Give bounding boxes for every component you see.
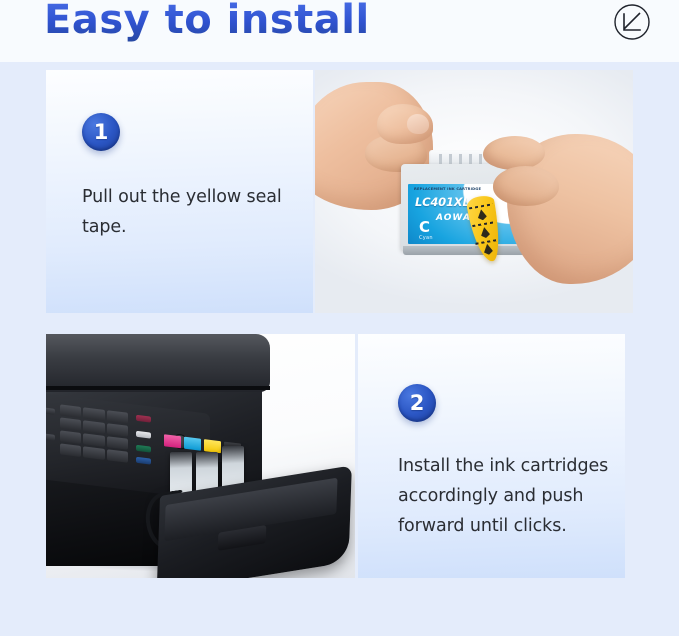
right-hand-middle-finger [493, 166, 559, 206]
printer-lid-seam [46, 386, 270, 390]
keypad-key [60, 417, 81, 431]
cartridge-color-letter: C [419, 220, 430, 235]
cartridge-color-name: Cyan [419, 235, 433, 241]
step-2-text-card: 2 Install the ink cartridges accordingly… [358, 334, 625, 578]
keypad-key [107, 410, 128, 424]
step-1-badge: 1 [82, 113, 120, 151]
keypad-key [83, 420, 104, 434]
keypad-key [60, 430, 81, 444]
printer-menu-button [46, 407, 55, 415]
step-2-instruction: Install the ink cartridges accordingly a… [398, 451, 616, 541]
keypad-key [60, 443, 81, 457]
cartridge-model-text: LC401XL [415, 195, 470, 209]
circle-arrow-down-left-logo [613, 3, 651, 41]
printer-stop-exit-button [136, 415, 151, 423]
step-2-photo-printer-ink-door-open [46, 334, 355, 578]
printer-mono-start-button [136, 431, 151, 439]
step-1-instruction: Pull out the yellow seal tape. [82, 182, 297, 242]
keypad-key [107, 436, 128, 450]
ink-indicator-magenta [164, 434, 181, 448]
printer-redial-pause-button [46, 433, 55, 441]
keypad-key [107, 449, 128, 463]
step-1-text-card: 1 Pull out the yellow seal tape. [46, 70, 313, 313]
printer-top-lid [46, 334, 270, 392]
keypad-key [83, 446, 104, 460]
keypad-key [60, 404, 81, 418]
keypad-key [107, 423, 128, 437]
keypad-key [83, 433, 104, 447]
printer-color-start-button [136, 445, 151, 453]
step-row-1: 1 Pull out the yellow seal tape. [46, 70, 633, 313]
ink-indicator-cyan [184, 437, 201, 451]
right-hand-index-finger [483, 136, 545, 170]
page-title: Easy to install [44, 0, 370, 43]
step-2-badge: 2 [398, 384, 436, 422]
step-1-photo-hands-pulling-seal-tape: REPLACEMENT INK CARTRIDGE LC401XL AOWAO … [315, 70, 633, 313]
page-header: Easy to install [0, 0, 679, 62]
step-row-2: 2 Install the ink cartridges accordingly… [46, 334, 625, 578]
cartridge-label-top-line: REPLACEMENT INK CARTRIDGE [414, 187, 481, 191]
printer-keypad [60, 404, 128, 462]
left-thumb-nail [407, 114, 429, 134]
keypad-key [83, 407, 104, 421]
printer-ok-button [136, 457, 151, 465]
